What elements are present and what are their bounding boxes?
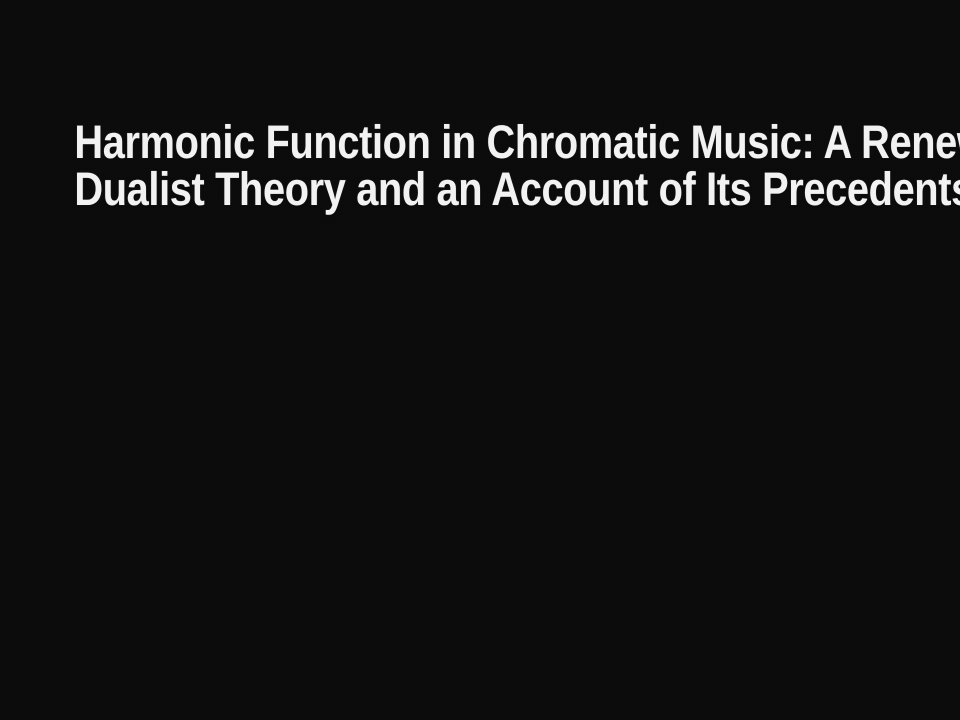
book-cover: Harmonic Function in Chromatic Music: A … <box>0 0 960 720</box>
paper-grain-overlay <box>0 0 960 720</box>
cover-title-block: Harmonic Function in Chromatic Music: A … <box>0 118 960 212</box>
cover-title-line-2: Dualist Theory and an Account of Its Pre… <box>74 165 885 212</box>
cover-title-line-1: Harmonic Function in Chromatic Music: A … <box>74 118 885 165</box>
